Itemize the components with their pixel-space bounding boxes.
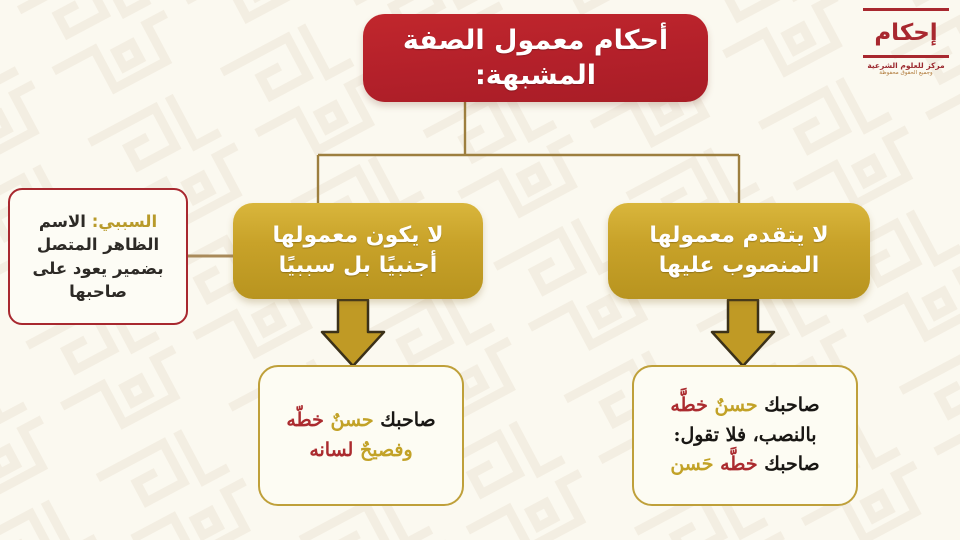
example-segment: حسنٌ bbox=[708, 394, 758, 416]
branch-rule-left-text: لا يكون معمولها أجنبيًا بل سببيًا bbox=[233, 221, 483, 280]
definition-term: السببي: bbox=[92, 212, 157, 231]
logo-subtitle-small: وجميع الحقوق محفوظة bbox=[860, 70, 952, 77]
example-segment: لسانه bbox=[309, 439, 353, 461]
definition-note-sababi: السببي: الاسم الظاهر المتصل بضمير يعود ع… bbox=[8, 188, 188, 325]
example-segment: خطَّه bbox=[670, 394, 708, 416]
example-segment: وفصيحٌ bbox=[353, 439, 412, 461]
example-segment: حسنٌ bbox=[324, 409, 374, 431]
brand-logo: إحكام مركز للعلوم الشرعية وجميع الحقوق م… bbox=[860, 8, 952, 80]
logo-wordmark: إحكام bbox=[874, 22, 937, 45]
example-left-text: صاحبك حسنٌ خطّه وفصيحٌ لسانه bbox=[260, 406, 462, 465]
example-right-text: صاحبك حسنٌ خطَّه بالنصب، فلا تقول: صاحبك… bbox=[634, 391, 856, 479]
definition-note-text: السببي: الاسم الظاهر المتصل بضمير يعود ع… bbox=[10, 210, 186, 304]
example-segment: صاحبك bbox=[374, 409, 436, 431]
example-box-left: صاحبك حسنٌ خطّه وفصيحٌ لسانه bbox=[258, 365, 464, 506]
example-segment: خطّه bbox=[286, 409, 324, 431]
page-title: أحكام معمول الصفة المشبهة: bbox=[363, 14, 708, 102]
branch-rule-right: لا يتقدم معمولها المنصوب عليها bbox=[608, 203, 870, 299]
down-arrow-icon-right bbox=[712, 300, 774, 366]
example-segment: خطَّه bbox=[714, 453, 758, 475]
example-segment: حَسن bbox=[670, 453, 713, 475]
branch-rule-right-text: لا يتقدم معمولها المنصوب عليها bbox=[608, 221, 870, 280]
diagram-canvas: إحكام مركز للعلوم الشرعية وجميع الحقوق م… bbox=[0, 0, 960, 540]
branch-rule-left: لا يكون معمولها أجنبيًا بل سببيًا bbox=[233, 203, 483, 299]
down-arrow-icon-left bbox=[322, 300, 384, 366]
logo-mark-icon: إحكام bbox=[863, 8, 949, 58]
logo-subtitle: مركز للعلوم الشرعية bbox=[860, 61, 952, 70]
example-box-right: صاحبك حسنٌ خطَّه بالنصب، فلا تقول: صاحبك… bbox=[632, 365, 858, 506]
example-segment: صاحبك bbox=[758, 394, 820, 416]
page-title-text: أحكام معمول الصفة المشبهة: bbox=[363, 23, 708, 93]
